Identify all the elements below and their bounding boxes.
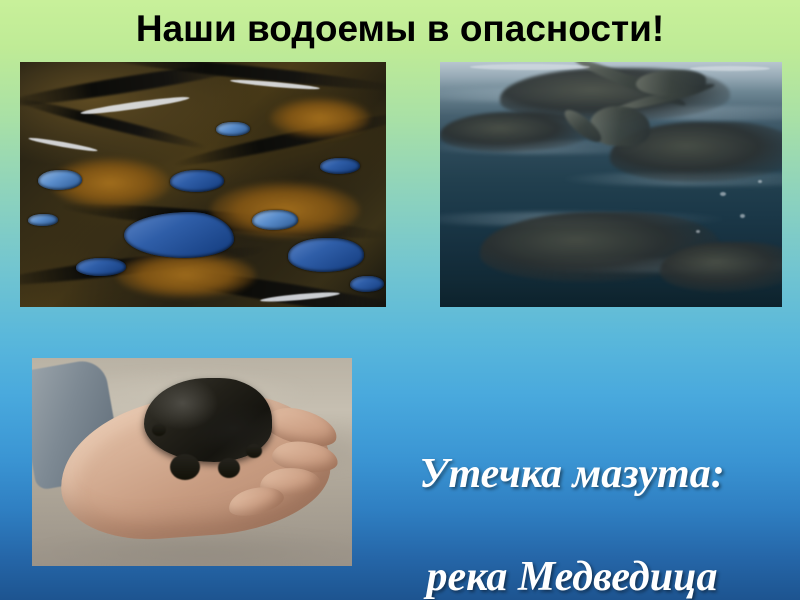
rust-stain <box>270 98 370 138</box>
foam-speck <box>696 230 700 233</box>
rust-stain <box>116 252 256 298</box>
caption-line-1: Утечка мазута: <box>352 449 792 500</box>
oil-drip <box>152 424 166 436</box>
page-title: Наши водоемы в опасности! <box>0 8 800 50</box>
foam-line <box>690 66 770 71</box>
image-hand-holding-fuel-oil-sludge <box>32 358 352 566</box>
image-oil-polluted-marsh-aerial <box>20 62 386 307</box>
water-pond <box>288 238 364 272</box>
slide-caption: Утечка мазута: река Медведица <box>352 398 792 600</box>
slide-canvas: Наши водоемы в опасности! <box>0 0 800 600</box>
oil-drip <box>170 454 200 480</box>
oil-slick-patch <box>660 242 782 292</box>
foam-line <box>470 64 590 70</box>
image-oil-slick-on-water <box>440 62 782 307</box>
foam-speck <box>758 180 762 183</box>
foam-speck <box>740 214 745 218</box>
water-pond <box>170 170 224 192</box>
water-pond <box>124 212 234 258</box>
foam-speck <box>720 192 726 196</box>
water-pond <box>216 122 250 136</box>
water-pond <box>28 214 58 226</box>
water-pond <box>76 258 126 276</box>
oil-drip <box>218 458 240 478</box>
oil-drip <box>246 444 262 458</box>
oil-rivulet <box>636 70 706 96</box>
water-pond <box>350 276 384 292</box>
water-pond <box>320 158 360 174</box>
caption-line-2: река Медведица <box>352 552 792 600</box>
water-pond <box>252 210 298 230</box>
water-pond <box>38 170 82 190</box>
